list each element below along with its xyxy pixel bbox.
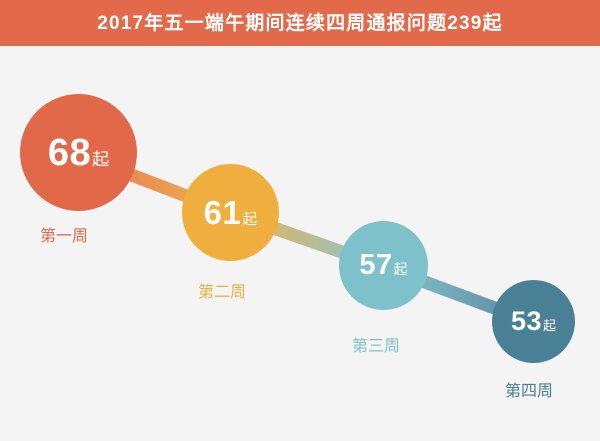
bubble-number-week-2: 61 [204,196,242,229]
title-bar: 2017年五一端午期间连续四周通报问题239起 [0,0,600,46]
category-label-week-4: 第四周 [505,384,553,400]
bubble-unit-week-4: 起 [543,319,556,332]
bubble-week-2[interactable]: 61 起 [182,164,279,261]
category-label-week-1: 第一周 [40,229,88,245]
infographic-canvas: 2017年五一端午期间连续四周通报问题239起 [0,0,600,441]
bubble-unit-week-2: 起 [242,212,257,227]
bubble-week-1[interactable]: 68 起 [20,94,137,211]
bubble-number-week-4: 53 [511,308,542,335]
bubble-number-week-3: 57 [359,251,392,280]
bubble-value-week-4: 53 起 [511,308,556,335]
category-label-week-3: 第三周 [352,339,400,355]
bubble-value-week-2: 61 起 [204,196,258,229]
category-label-week-2: 第二周 [198,285,246,301]
bubble-unit-week-3: 起 [394,262,408,276]
bubble-value-week-1: 68 起 [48,134,109,172]
bubble-value-week-3: 57 起 [359,251,407,280]
bubble-unit-week-1: 起 [92,151,109,168]
bubble-number-week-1: 68 [48,134,91,172]
bubble-chart: 68 起 61 起 57 起 53 起 第一周 第二周 [0,46,600,441]
bubble-week-3[interactable]: 57 起 [339,221,428,310]
bubble-week-4[interactable]: 53 起 [492,280,575,363]
page-title: 2017年五一端午期间连续四周通报问题239起 [97,14,503,33]
